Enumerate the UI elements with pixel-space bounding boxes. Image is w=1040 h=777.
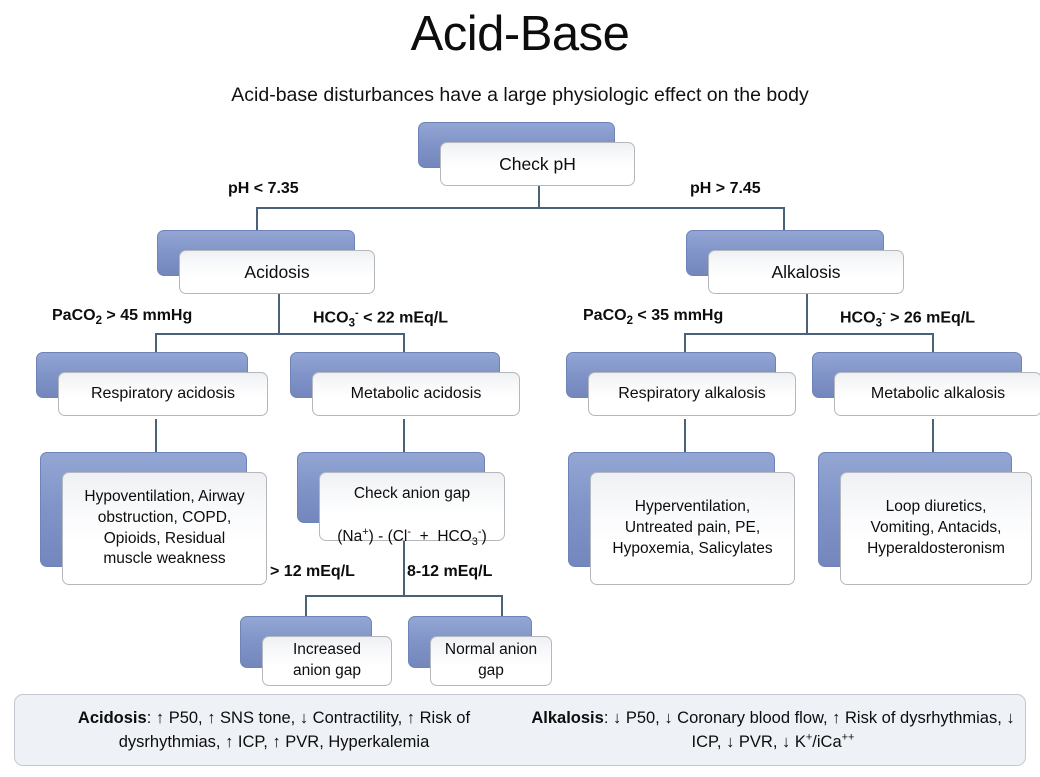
node-card: Metabolic alkalosis [834, 372, 1040, 416]
connector-level1-bar [256, 207, 784, 209]
node-metabolic-alkalosis[interactable]: Metabolic alkalosis [812, 352, 1020, 396]
node-acidosis[interactable]: Acidosis [157, 230, 353, 274]
node-label: Acidosis [244, 261, 309, 284]
edge-label-ph-high: pH > 7.45 [690, 180, 761, 198]
edge-label-hco3-low: HCO3- < 22 mEq/L [313, 307, 448, 330]
acid-base-flowchart: Acid-Base Acid-base disturbances have a … [0, 0, 1040, 777]
summary-acidosis: Acidosis: ↑ P50, ↑ SNS tone, ↓ Contracti… [25, 701, 523, 761]
connector-alkalosis-bar [684, 333, 932, 335]
connector-resp-acidosis-down [155, 419, 157, 452]
node-label: Check anion gap (Na+) - (Cl- + HCO3-) [337, 463, 487, 550]
connector-resp-alkalosis-down [684, 419, 686, 452]
node-respiratory-acidosis-causes[interactable]: Hypoventilation, Airway obstruction, COP… [40, 452, 245, 565]
connector-acidosis-bar [155, 333, 403, 335]
connector-alkalosis-down [806, 294, 808, 334]
edge-label-gap-high: > 12 mEq/L [270, 563, 355, 581]
connector-to-metab-acidosis [403, 333, 405, 353]
node-card: Respiratory acidosis [58, 372, 268, 416]
node-label: Increased anion gap [293, 640, 361, 682]
node-label: Normal anion gap [445, 640, 537, 682]
summary-acidosis-text: : ↑ P50, ↑ SNS tone, ↓ Contractility, ↑ … [119, 709, 470, 751]
edge-label-gap-normal: 8-12 mEq/L [407, 563, 492, 581]
node-increased-anion-gap[interactable]: Increased anion gap [240, 616, 370, 666]
node-respiratory-acidosis[interactable]: Respiratory acidosis [36, 352, 246, 396]
node-card: Loop diuretics, Vomiting, Antacids, Hype… [840, 472, 1032, 585]
node-check-anion-gap[interactable]: Check anion gap (Na+) - (Cl- + HCO3-) [297, 452, 483, 521]
node-label: Respiratory alkalosis [618, 383, 766, 404]
page-subtitle: Acid-base disturbances have a large phys… [0, 84, 1040, 107]
node-metabolic-acidosis[interactable]: Metabolic acidosis [290, 352, 498, 396]
connector-to-resp-alkalosis [684, 333, 686, 353]
node-respiratory-alkalosis[interactable]: Respiratory alkalosis [566, 352, 774, 396]
connector-metab-acidosis-down [403, 419, 405, 452]
connector-acidosis-down [278, 294, 280, 334]
node-check-ph[interactable]: Check pH [418, 122, 613, 166]
node-label: Alkalosis [771, 261, 840, 284]
node-label: Metabolic alkalosis [871, 383, 1005, 404]
node-normal-anion-gap[interactable]: Normal anion gap [408, 616, 530, 666]
node-card: Respiratory alkalosis [588, 372, 796, 416]
node-respiratory-alkalosis-causes[interactable]: Hyperventilation, Untreated pain, PE, Hy… [568, 452, 773, 565]
node-card: Check pH [440, 142, 635, 186]
summary-acidosis-label: Acidosis [78, 709, 147, 727]
node-card: Hyperventilation, Untreated pain, PE, Hy… [590, 472, 795, 585]
anion-gap-formula: (Na+) - (Cl- + HCO3-) [337, 528, 487, 545]
edge-label-ph-low: pH < 7.35 [228, 180, 299, 198]
edge-label-hco3-high: HCO3- > 26 mEq/L [840, 307, 975, 330]
node-card: Alkalosis [708, 250, 904, 294]
node-card: Metabolic acidosis [312, 372, 520, 416]
connector-to-metab-alkalosis [932, 333, 934, 353]
summary-bar: Acidosis: ↑ P50, ↑ SNS tone, ↓ Contracti… [14, 694, 1026, 766]
connector-aniongap-bar [305, 595, 501, 597]
node-metabolic-alkalosis-causes[interactable]: Loop diuretics, Vomiting, Antacids, Hype… [818, 452, 1010, 565]
connector-checkph-down [538, 186, 540, 208]
node-card: Check anion gap (Na+) - (Cl- + HCO3-) [319, 472, 505, 541]
node-card: Normal anion gap [430, 636, 552, 686]
node-card: Increased anion gap [262, 636, 392, 686]
node-card: Acidosis [179, 250, 375, 294]
page-title: Acid-Base [0, 6, 1040, 62]
node-card: Hypoventilation, Airway obstruction, COP… [62, 472, 267, 585]
node-label: Respiratory acidosis [91, 383, 235, 404]
node-label: Hypoventilation, Airway obstruction, COP… [84, 487, 244, 570]
node-label: Check pH [499, 153, 576, 176]
node-label: Hyperventilation, Untreated pain, PE, Hy… [612, 497, 772, 559]
connector-metab-alkalosis-down [932, 419, 934, 452]
connector-to-resp-acidosis [155, 333, 157, 353]
summary-alkalosis-label: Alkalosis [531, 709, 603, 727]
edge-label-paco2-low: PaCO2 < 35 mmHg [583, 307, 723, 327]
summary-alkalosis-text: : ↓ P50, ↓ Coronary blood flow, ↑ Risk o… [604, 709, 1015, 751]
node-label: Loop diuretics, Vomiting, Antacids, Hype… [867, 497, 1005, 559]
connector-to-normal-gap [501, 595, 503, 616]
summary-alkalosis: Alkalosis: ↓ P50, ↓ Coronary blood flow,… [527, 701, 1019, 761]
anion-gap-title: Check anion gap [354, 485, 470, 502]
edge-label-paco2-high: PaCO2 > 45 mmHg [52, 307, 192, 327]
node-label: Metabolic acidosis [351, 383, 482, 404]
node-alkalosis[interactable]: Alkalosis [686, 230, 882, 274]
connector-to-increased-gap [305, 595, 307, 616]
